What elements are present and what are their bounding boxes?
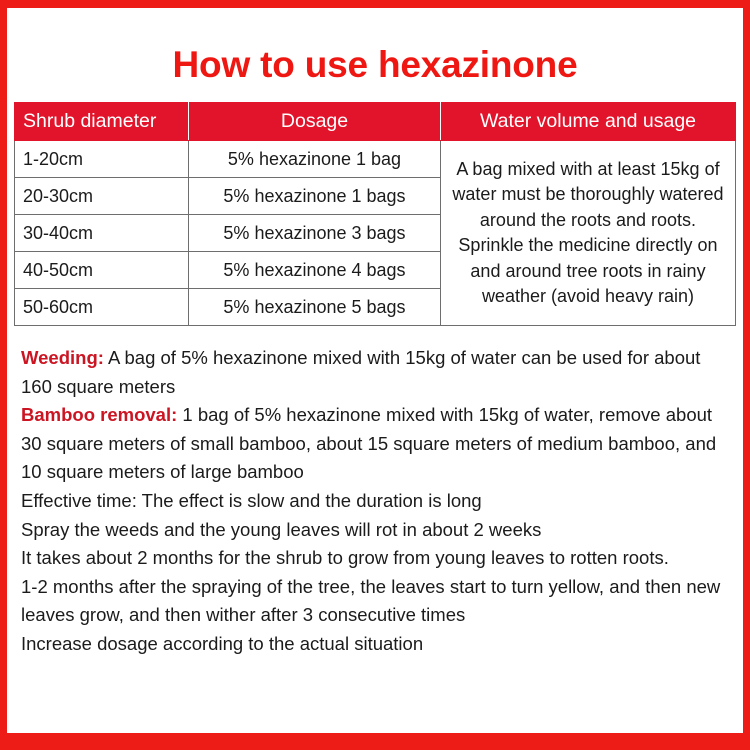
- note-months-after-spraying: 1-2 months after the spraying of the tre…: [21, 573, 730, 630]
- note-bamboo-label: Bamboo removal:: [21, 404, 177, 425]
- note-shrub-growth: It takes about 2 months for the shrub to…: [21, 544, 730, 573]
- cell-diameter: 50-60cm: [15, 289, 189, 326]
- table-header: Shrub diameter Dosage Water volume and u…: [15, 103, 736, 141]
- note-bamboo-removal: Bamboo removal: 1 bag of 5% hexazinone m…: [21, 401, 730, 487]
- cell-diameter: 30-40cm: [15, 215, 189, 252]
- dosage-table: Shrub diameter Dosage Water volume and u…: [14, 102, 736, 326]
- table-body: 1-20cm 5% hexazinone 1 bag A bag mixed w…: [15, 141, 736, 326]
- column-header-dosage: Dosage: [189, 103, 441, 141]
- cell-diameter: 40-50cm: [15, 252, 189, 289]
- cell-diameter: 20-30cm: [15, 178, 189, 215]
- column-header-shrub-diameter: Shrub diameter: [15, 103, 189, 141]
- cell-dosage: 5% hexazinone 1 bags: [189, 178, 441, 215]
- table-header-row: Shrub diameter Dosage Water volume and u…: [15, 103, 736, 141]
- column-header-water-volume-and-usage: Water volume and usage: [441, 103, 736, 141]
- note-spray-weeds: Spray the weeds and the young leaves wil…: [21, 516, 730, 545]
- cell-dosage: 5% hexazinone 1 bag: [189, 141, 441, 178]
- cell-water-volume-usage: A bag mixed with at least 15kg of water …: [441, 141, 736, 326]
- note-weeding-text: A bag of 5% hexazinone mixed with 15kg o…: [21, 347, 700, 397]
- note-weeding-label: Weeding:: [21, 347, 104, 368]
- cell-dosage: 5% hexazinone 5 bags: [189, 289, 441, 326]
- notes-section: Weeding: A bag of 5% hexazinone mixed wi…: [14, 344, 736, 659]
- note-effective-time: Effective time: The effect is slow and t…: [21, 487, 730, 516]
- cell-dosage: 5% hexazinone 4 bags: [189, 252, 441, 289]
- red-poster-frame: How to use hexazinone Shrub diameter Dos…: [0, 0, 750, 750]
- page-title: How to use hexazinone: [14, 8, 736, 92]
- note-weeding: Weeding: A bag of 5% hexazinone mixed wi…: [21, 344, 730, 401]
- note-increase-dosage: Increase dosage according to the actual …: [21, 630, 730, 659]
- cell-diameter: 1-20cm: [15, 141, 189, 178]
- table-row: 1-20cm 5% hexazinone 1 bag A bag mixed w…: [15, 141, 736, 178]
- cell-dosage: 5% hexazinone 3 bags: [189, 215, 441, 252]
- poster-sheet: How to use hexazinone Shrub diameter Dos…: [7, 8, 743, 733]
